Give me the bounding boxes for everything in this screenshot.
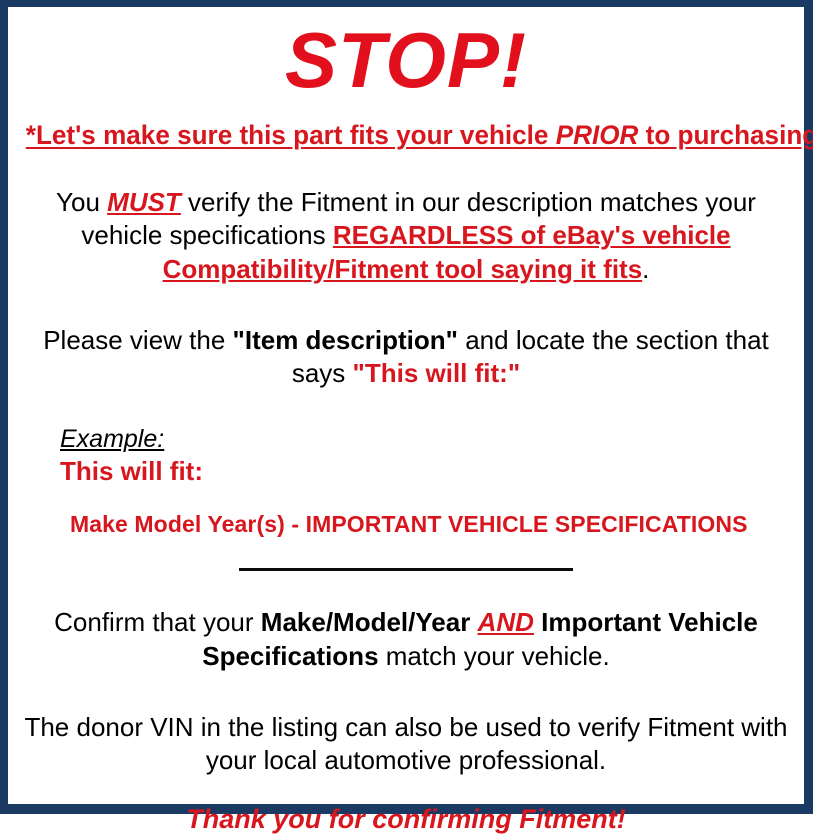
and-emphasis: AND [478,607,534,637]
confirm-paragraph-part3: match your vehicle. [379,641,610,671]
notice-content: STOP! *Let's make sure this part fits yo… [8,7,804,804]
example-block: Example: This will fit: Make Model Year(… [20,426,792,538]
confirm-paragraph: Confirm that your Make/Model/Year AND Im… [20,606,792,673]
example-spec-line: Make Model Year(s) - IMPORTANT VEHICLE S… [60,511,792,538]
divider-wrap [20,560,792,578]
make-model-year-emphasis: Make/Model/Year [261,607,471,637]
must-paragraph-part3: . [642,254,649,284]
vin-paragraph: The donor VIN in the listing can also be… [20,711,792,778]
section-divider [239,568,573,571]
example-label-row: Example: [60,426,792,452]
confirm-paragraph-part1: Confirm that your [54,607,261,637]
example-label: Example: [60,426,164,452]
must-paragraph: You MUST verify the Fitment in our descr… [20,186,792,286]
item-description-label: "Item description" [233,325,458,355]
subheadline-emphasis: PRIOR [556,120,639,150]
thanks-message: Thank you for confirming Fitment! [20,805,792,835]
must-paragraph-part1: You [56,187,107,217]
must-emphasis: MUST [107,187,181,217]
subheadline-after: to purchasing* [638,120,813,150]
subheadline-before: *Let's make sure this part fits your veh… [26,120,556,150]
view-paragraph: Please view the "Item description" and l… [20,324,792,391]
this-will-fit-label: "This will fit:" [353,358,521,388]
fitment-notice-card: STOP! *Let's make sure this part fits yo… [0,0,813,814]
subheadline: *Let's make sure this part fits your veh… [26,121,786,150]
example-fit-heading: This will fit: [60,457,792,486]
page-title: STOP! [20,7,792,99]
view-paragraph-part1: Please view the [43,325,232,355]
